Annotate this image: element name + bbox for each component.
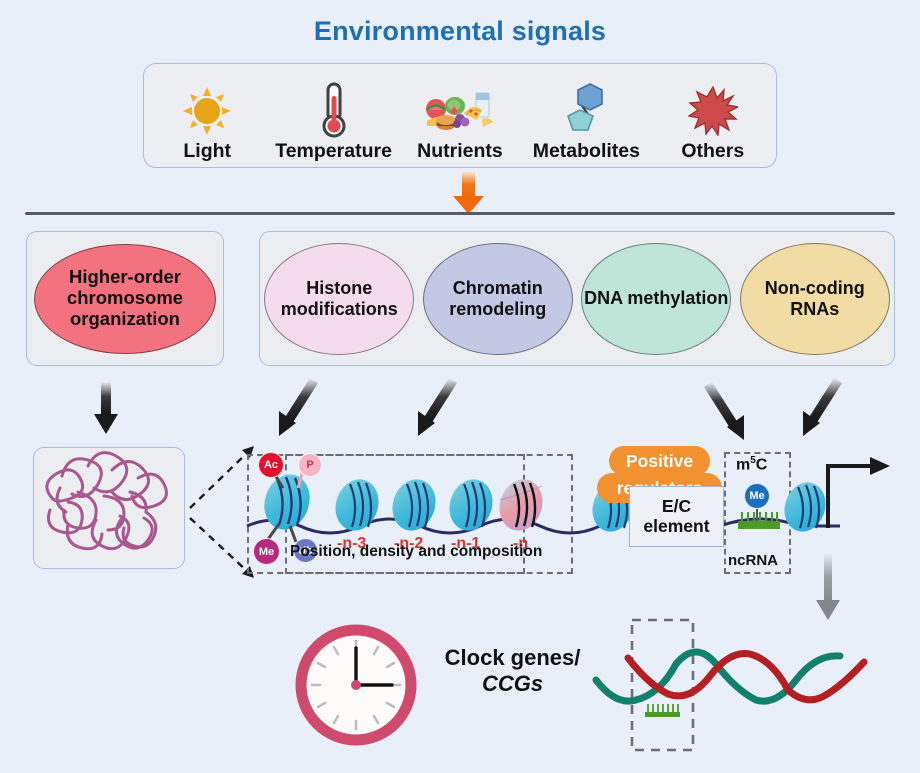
wave-ncrna-marker <box>645 704 680 717</box>
diagram-canvas: Environmental signals <box>0 0 920 773</box>
oscillation-layer <box>0 0 920 773</box>
